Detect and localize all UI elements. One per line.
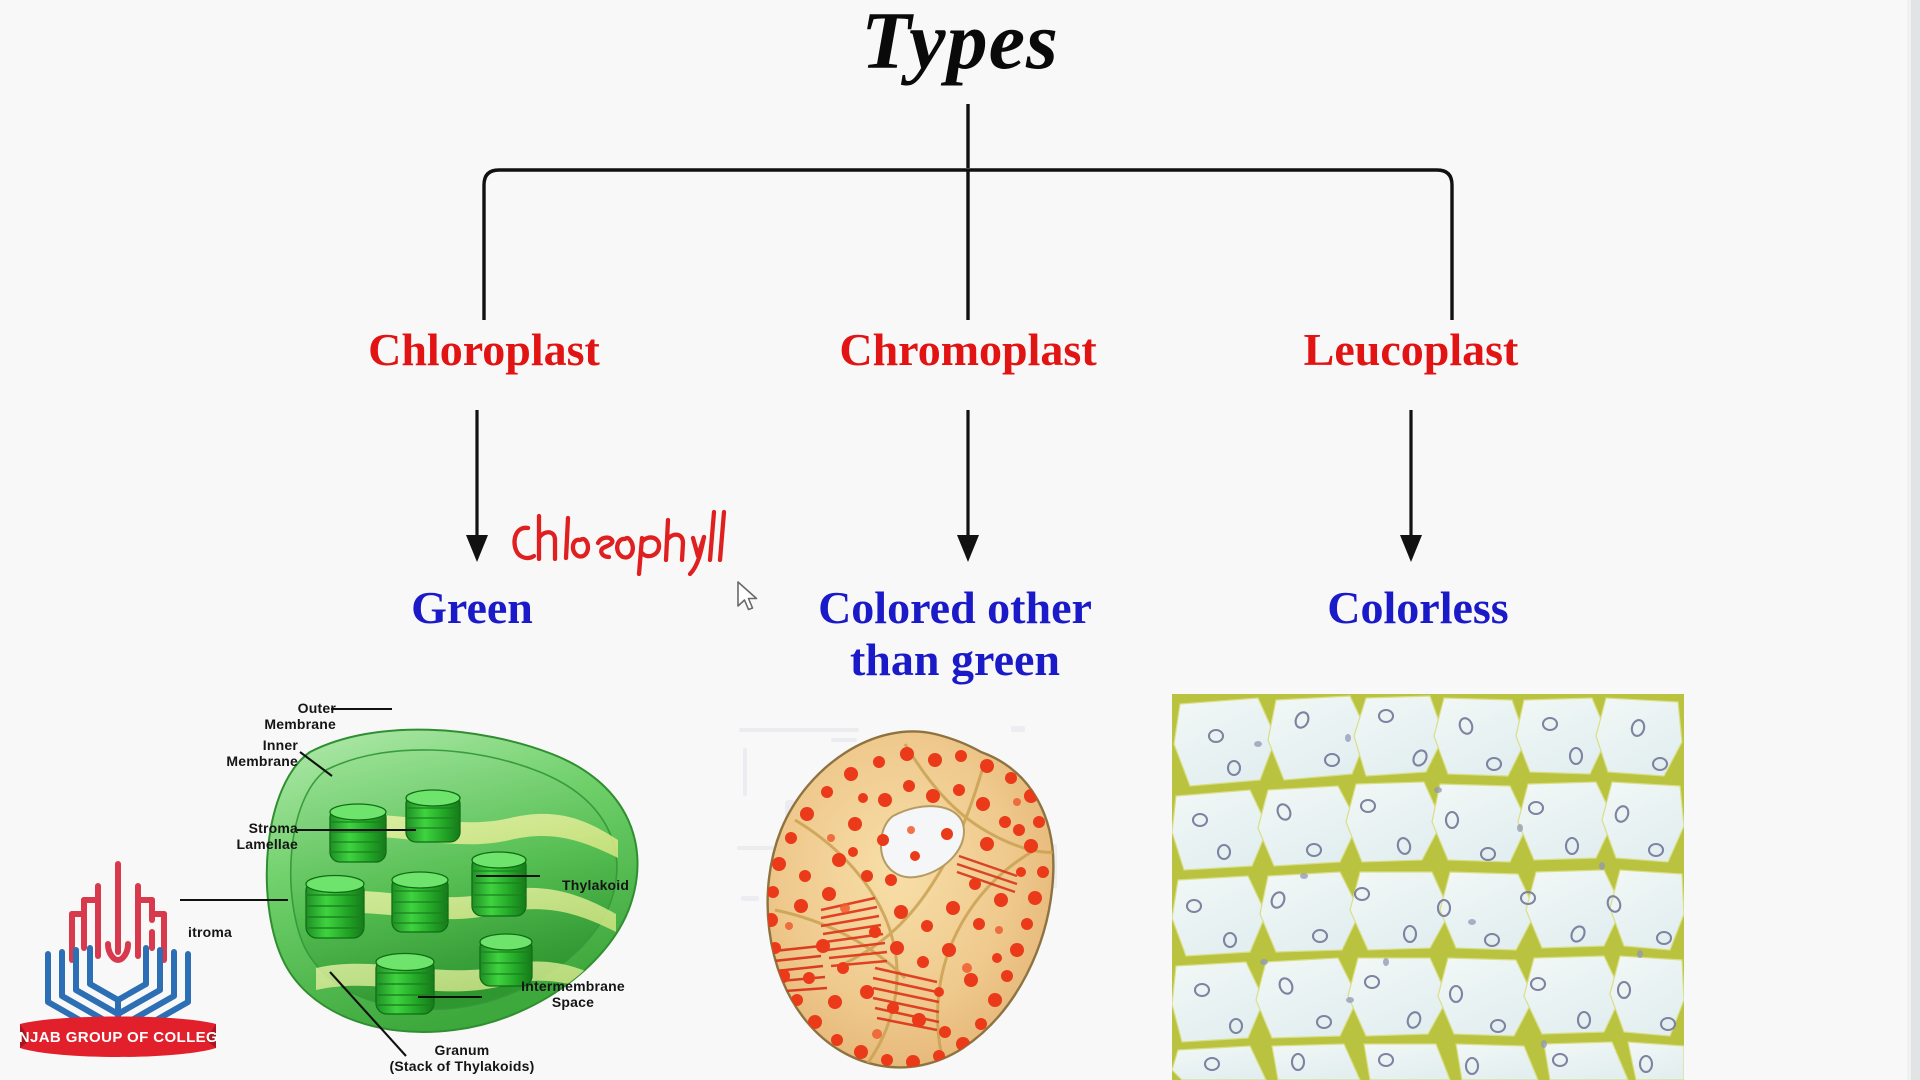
description-chromoplast[interactable]: Colored other than green bbox=[818, 582, 1092, 685]
type-label-leucoplast[interactable]: Leucoplast bbox=[1304, 323, 1519, 376]
slide-canvas: Types Chloroplast Chromoplast Leucopla bbox=[0, 0, 1920, 1080]
arrow-chloroplast bbox=[466, 410, 488, 562]
mouse-cursor-icon bbox=[735, 580, 761, 614]
handwritten-annotation-chlorophyll: Chlorophyll bbox=[508, 506, 738, 576]
cp-label-stroma-lamellae: Stroma Lamellae bbox=[218, 820, 298, 852]
cp-label-granum: Granum (Stack of Thylakoids) bbox=[372, 1042, 552, 1074]
chromoplast-micrograph bbox=[735, 700, 1080, 1080]
cp-label-inner-membrane: Inner Membrane bbox=[216, 737, 298, 769]
right-edge-strip bbox=[1911, 0, 1920, 1080]
punjab-group-of-colleges-logo: PUNJAB GROUP OF COLLEGES bbox=[18, 856, 218, 1066]
type-label-chloroplast[interactable]: Chloroplast bbox=[368, 323, 600, 376]
leucoplast-micrograph bbox=[1172, 694, 1684, 1080]
type-label-chromoplast[interactable]: Chromoplast bbox=[839, 323, 1096, 376]
page-title: Types bbox=[0, 0, 1920, 88]
cp-label-outer-membrane: Outer Membrane bbox=[258, 700, 336, 732]
cp-label-intermembrane-space: Intermembrane Space bbox=[512, 978, 634, 1010]
logo-banner-text: PUNJAB GROUP OF COLLEGES bbox=[18, 1029, 218, 1046]
arrow-leucoplast bbox=[1400, 410, 1422, 562]
arrow-chromoplast bbox=[957, 410, 979, 562]
description-leucoplast[interactable]: Colorless bbox=[1327, 582, 1508, 634]
description-chloroplast[interactable]: Green bbox=[411, 582, 533, 634]
cp-label-thylakoid: Thylakoid bbox=[562, 877, 672, 893]
